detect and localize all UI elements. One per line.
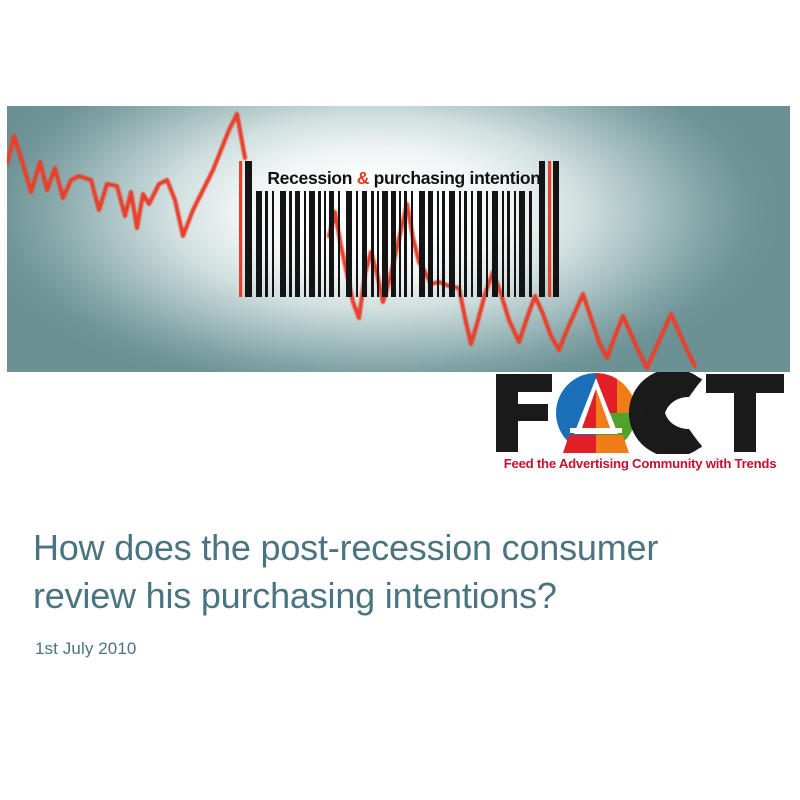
barcode-title-ampersand: & [357,168,369,188]
trend-line-left [7,114,245,236]
barcode-guard-right [548,161,551,297]
fact-letter-f [496,374,552,452]
page-title: How does the post-recession consumer rev… [33,524,763,620]
barcode-guard-left [239,161,242,297]
fact-letter-t [706,374,784,452]
fact-logo: Feed the Advertising Community with Tren… [492,372,788,476]
page-title-line-1: How does the post-recession consumer [33,527,658,568]
slide-root: Recession & purchasing intention [0,0,800,800]
fact-wordmark-graphic [492,372,788,454]
barcode-title-prefix: Recession [267,168,356,188]
title-block: How does the post-recession consumer rev… [33,524,763,659]
barcode-title-suffix: purchasing intention [369,168,541,188]
slide-date: 1st July 2010 [35,639,763,659]
barcode-title-text: Recession & purchasing intention [261,167,547,190]
page-title-line-2: review his purchasing intentions? [33,575,557,616]
fact-tagline: Feed the Advertising Community with Tren… [492,456,788,471]
